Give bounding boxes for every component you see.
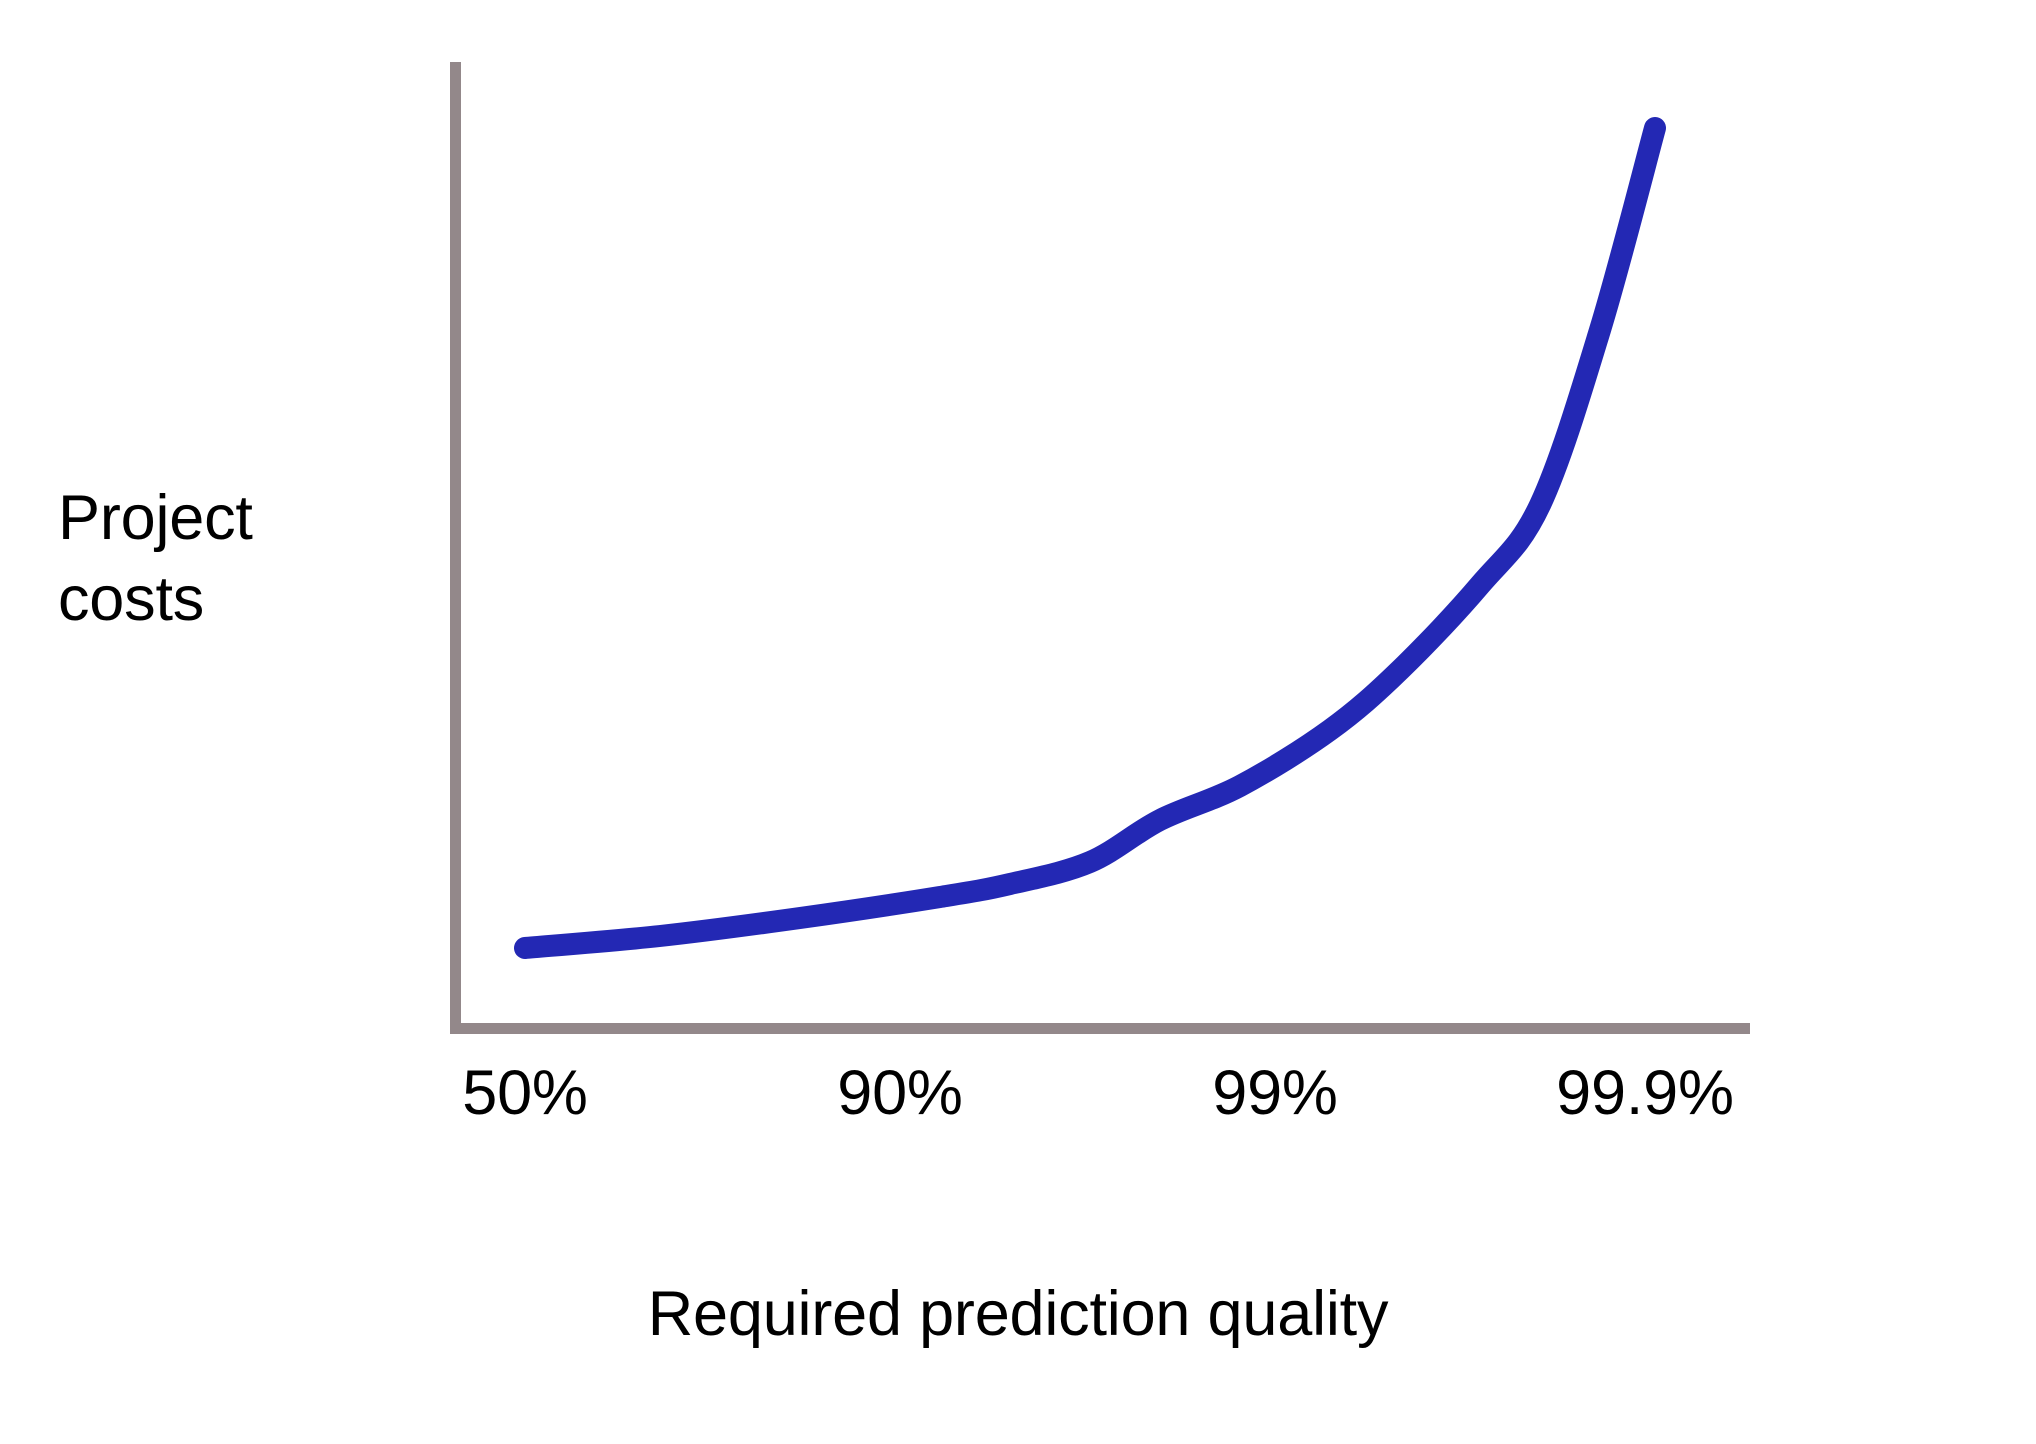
x-tick-label-3: 99.9%	[1556, 1057, 1734, 1129]
x-axis-title: Required prediction quality	[0, 1278, 2036, 1350]
plot-area	[0, 0, 2036, 1444]
x-tick-label-1: 90%	[837, 1057, 963, 1129]
x-tick-label-2: 99%	[1212, 1057, 1338, 1129]
x-tick-label-0: 50%	[462, 1057, 588, 1129]
chart-canvas: Project costs 50% 90% 99% 99.9% Required…	[0, 0, 2036, 1444]
cost-curve-line	[525, 128, 1655, 948]
